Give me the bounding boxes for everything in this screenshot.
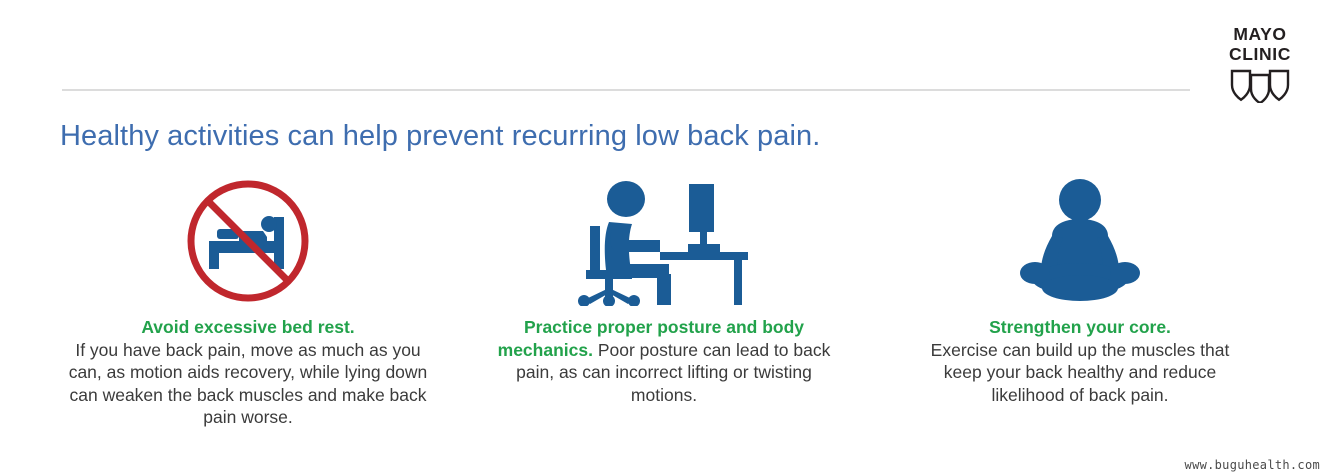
page-title: Healthy activities can help prevent recu… — [60, 120, 820, 153]
tip-body-avoid-bed-rest: If you have back pain, move as much as y… — [69, 340, 428, 428]
meditation-core-icon — [1005, 176, 1155, 308]
logo-text-line1: MAYO — [1212, 26, 1308, 44]
tip-lead-avoid-bed-rest: Avoid excessive bed rest. — [141, 317, 354, 337]
tips-row: Avoid excessive bed rest. If you have ba… — [40, 176, 1288, 429]
site-watermark: www.buguhealth.com — [1185, 458, 1320, 472]
tip-lead-strengthen-core: Strengthen your core. — [989, 317, 1171, 337]
three-shields-icon — [1212, 69, 1308, 103]
tip-column-avoid-bed-rest: Avoid excessive bed rest. If you have ba… — [40, 176, 456, 429]
tip-column-strengthen-core: Strengthen your core. Exercise can build… — [872, 176, 1288, 406]
tip-text-posture: Practice proper posture and body mechani… — [481, 316, 847, 406]
tip-text-avoid-bed-rest: Avoid excessive bed rest. If you have ba… — [58, 316, 438, 429]
tip-body-strengthen-core: Exercise can build up the muscles that k… — [931, 340, 1230, 405]
desk-posture-icon — [576, 176, 752, 308]
logo-text-line2: CLINIC — [1212, 46, 1308, 64]
tip-column-posture: Practice proper posture and body mechani… — [456, 176, 872, 406]
tip-text-strengthen-core: Strengthen your core. Exercise can build… — [915, 316, 1245, 406]
header-divider — [62, 89, 1190, 91]
no-bed-rest-icon — [173, 176, 323, 308]
mayo-clinic-logo: MAYO CLINIC — [1212, 26, 1308, 103]
